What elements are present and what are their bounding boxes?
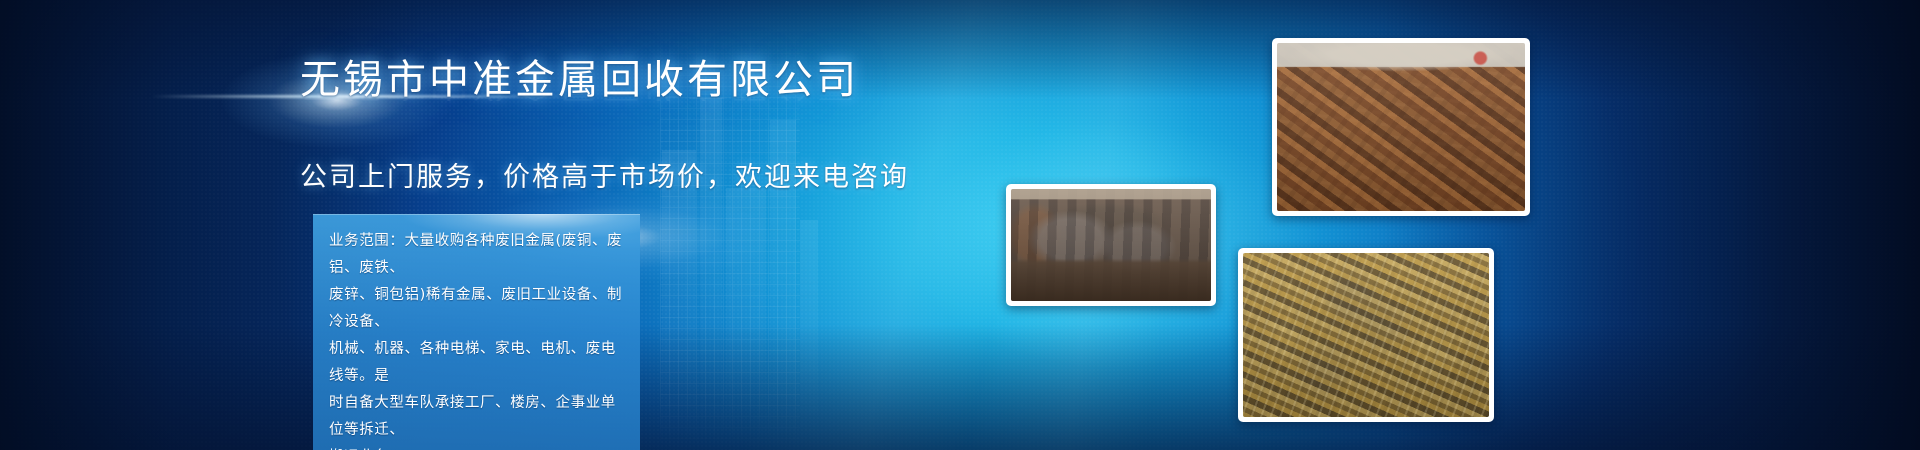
business-scope-line: 时自备大型车队承接工厂、楼房、企事业单位等拆迁、 — [313, 390, 640, 444]
company-banner: 无锡市中准金属回收有限公司 无锡市中准金属回收有限公司 公司上门服务，价格高于市… — [0, 0, 1920, 450]
background-vignette — [0, 0, 1920, 450]
business-scope-line: 机械、机器、各种电梯、家电、电机、废电线等。是 — [313, 336, 640, 390]
business-scope-line: 废锌、铜包铝)稀有金属、废旧工业设备、制冷设备、 — [313, 282, 640, 336]
business-scope-line: 业务范围：大量收购各种废旧金属(废铜、废铝、废铁、 — [313, 228, 640, 282]
photo-industrial-machinery — [1006, 184, 1216, 306]
photo-brass-scrap — [1238, 248, 1494, 422]
business-scope-line: 搬运业务。 — [313, 444, 640, 450]
industrial-machinery-image — [1011, 189, 1211, 301]
photo-scrap-steel-pile — [1272, 38, 1530, 216]
company-title-reflection: 无锡市中准金属回收有限公司 — [300, 81, 940, 101]
business-scope-box: 业务范围：大量收购各种废旧金属(废铜、废铝、废铁、 废锌、铜包铝)稀有金属、废旧… — [313, 214, 640, 450]
headline-group: 无锡市中准金属回收有限公司 无锡市中准金属回收有限公司 公司上门服务，价格高于市… — [300, 60, 940, 193]
scrap-steel-pile-image — [1277, 43, 1525, 211]
brass-scrap-image — [1243, 253, 1489, 417]
banner-subtitle: 公司上门服务，价格高于市场价，欢迎来电咨询 — [300, 163, 940, 193]
